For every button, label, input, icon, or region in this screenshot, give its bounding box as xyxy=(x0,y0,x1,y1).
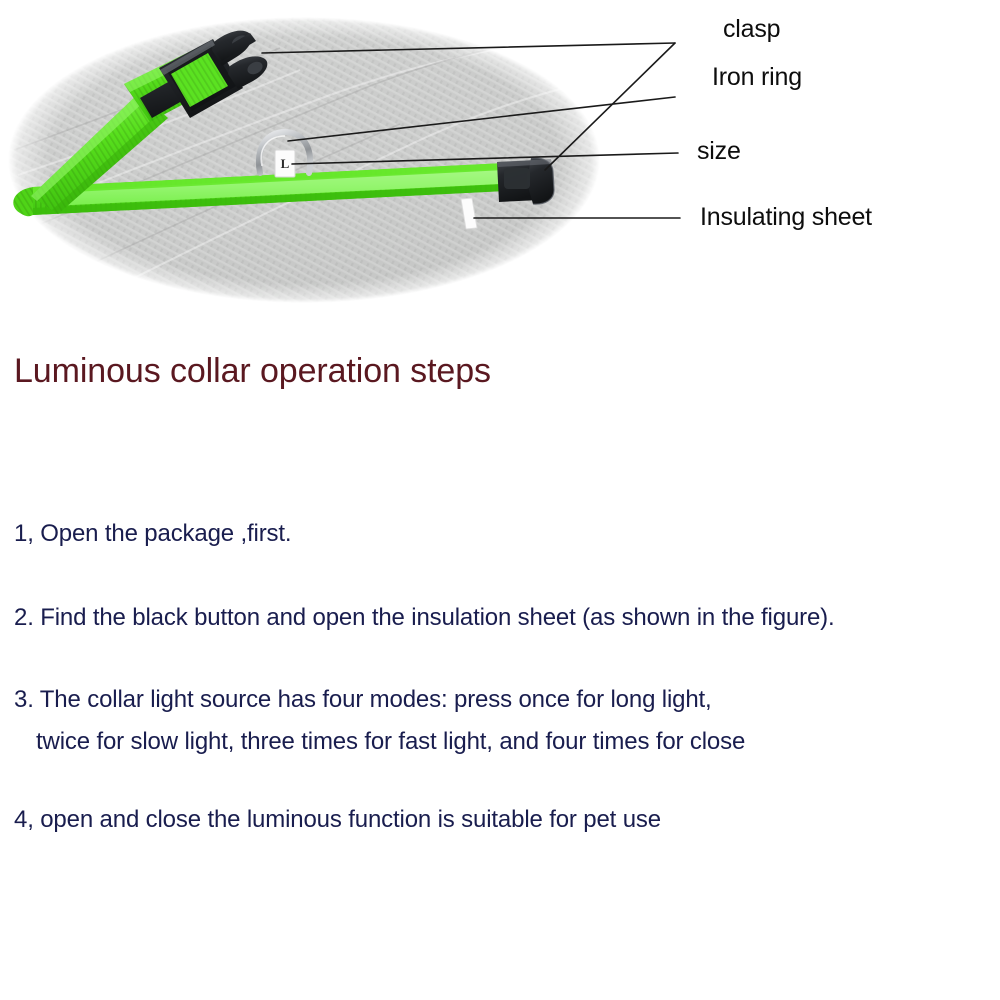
step-text-2: 2. Find the black button and open the in… xyxy=(14,604,835,631)
step-text-3: 3. The collar light source has four mode… xyxy=(14,686,712,713)
step-text-1: 1, Open the package ,first. xyxy=(14,520,291,547)
size-tag-text: L xyxy=(281,156,290,171)
collar-photo: L xyxy=(0,0,1000,312)
operation-steps-list: 1, Open the package ,first. 2. Find the … xyxy=(14,518,974,859)
callout-label-size: size xyxy=(697,139,741,164)
section-heading: Luminous collar operation steps xyxy=(14,353,491,390)
step-item-4: 4, open and close the luminous function … xyxy=(14,804,974,836)
step-item-3: 3. The collar light source has four mode… xyxy=(14,684,974,757)
step-item-2: 2. Find the black button and open the in… xyxy=(14,602,974,634)
callout-label-iron-ring: Iron ring xyxy=(712,65,802,90)
product-diagram: L clasp Iron xyxy=(0,0,1000,312)
step-text-3-continuation: twice for slow light, three times for fa… xyxy=(14,726,974,758)
callout-label-clasp: clasp xyxy=(723,17,780,42)
step-text-4: 4, open and close the luminous function … xyxy=(14,806,661,833)
step-item-1: 1, Open the package ,first. xyxy=(14,518,974,550)
right-clasp-buckle xyxy=(497,158,554,204)
callout-label-insulating-sheet: Insulating sheet xyxy=(700,205,872,230)
